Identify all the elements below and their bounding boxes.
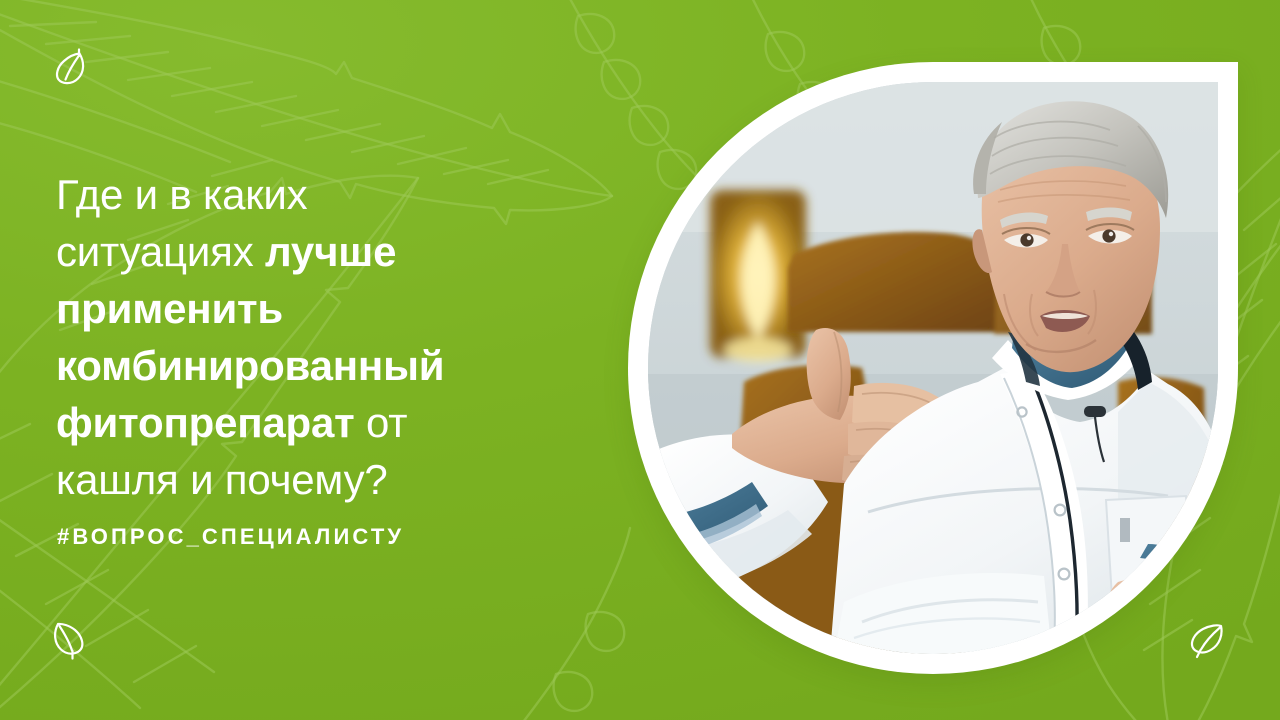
leaf-icon <box>55 48 91 90</box>
leaf-icon-bottom-right <box>1190 622 1226 667</box>
headline-line-1: Где и в каких <box>56 166 576 223</box>
hashtag-label: #ВОПРОС_СПЕЦИАЛИСТУ <box>57 524 404 550</box>
portrait-medallion <box>628 62 1238 674</box>
headline-line-3: применить <box>56 280 576 337</box>
headline-block: Где и в каких ситуациях лучше применить … <box>56 166 576 508</box>
portrait-photo <box>648 82 1218 654</box>
leaf-icon-top-left <box>55 48 91 95</box>
page-title: Где и в каких ситуациях лучше применить … <box>56 166 576 508</box>
poster-canvas: Где и в каких ситуациях лучше применить … <box>0 0 1280 720</box>
leaf-icon <box>52 618 88 662</box>
portrait-illustration <box>648 82 1218 654</box>
leaf-icon <box>1190 622 1226 662</box>
headline-line-4: комбинированный <box>56 337 576 394</box>
headline-line-5: фитопрепарат от <box>56 394 576 451</box>
headline-line-2: ситуациях лучше <box>56 223 576 280</box>
leaf-icon-bottom-left <box>52 618 88 667</box>
headline-line-6: кашля и почему? <box>56 451 576 508</box>
